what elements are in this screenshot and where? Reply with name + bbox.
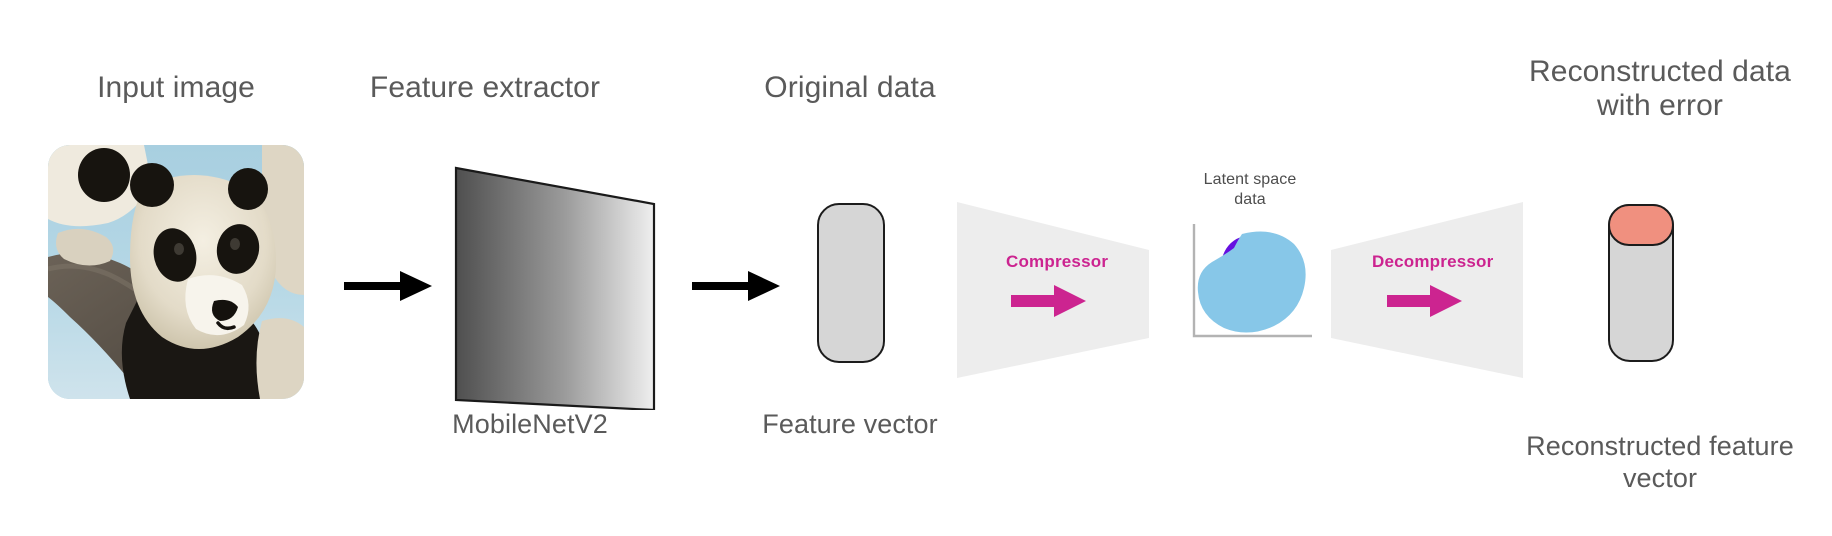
connector-arrow-2 [690, 268, 782, 304]
feature-extractor-model-label: MobileNetV2 [400, 408, 660, 441]
latent-space-title-line-2: data [1176, 190, 1324, 210]
latent-space-title-line-1: Latent space [1176, 170, 1324, 190]
compressor-label: Compressor [1006, 252, 1108, 272]
feature-vector-caption: Feature vector [720, 408, 980, 441]
latent-space-plot [1186, 222, 1312, 344]
decompressor-label: Decompressor [1372, 252, 1493, 272]
feature-vector-shape [817, 203, 885, 363]
panda-photo-thumbnail [48, 145, 304, 399]
reconstructed-feature-vector-caption-line-1: Reconstructed feature [1490, 430, 1830, 463]
reconstructed-data-title-line-1: Reconstructed data [1490, 54, 1830, 91]
decompressor-arrow-icon [1386, 284, 1464, 318]
reconstruction-error-segment [1608, 204, 1674, 246]
connector-arrow-1 [342, 268, 434, 304]
feature-extractor-shape [448, 160, 668, 410]
original-data-title: Original data [720, 70, 980, 107]
feature-extractor-title: Feature extractor [350, 70, 620, 107]
reconstructed-data-title-line-2: with error [1490, 88, 1830, 125]
compressor-arrow-icon [1010, 284, 1088, 318]
diagram-canvas: Input image [0, 0, 1832, 536]
input-image-title: Input image [48, 70, 304, 107]
reconstructed-feature-vector-caption-line-2: vector [1490, 462, 1830, 495]
